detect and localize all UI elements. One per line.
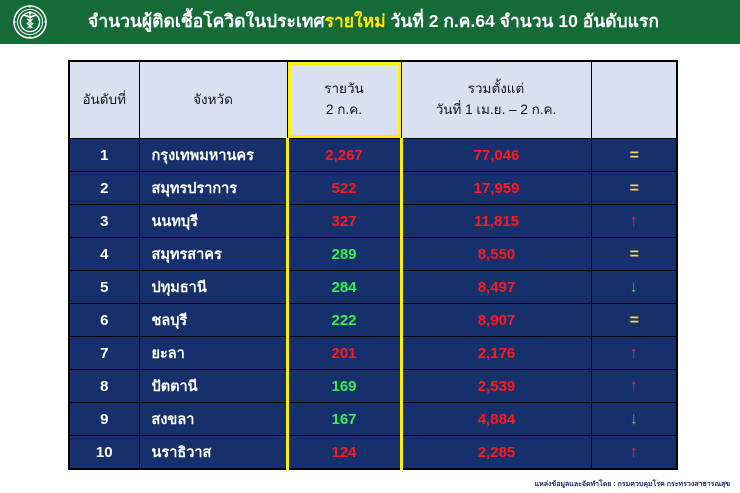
cell-trend: =: [591, 139, 677, 172]
cell-cumulative-count: 11,815: [401, 205, 591, 238]
cell-province: สมุทรปราการ: [139, 172, 287, 205]
cell-daily-count: 167: [287, 403, 401, 436]
cell-trend: =: [591, 238, 677, 271]
trend-up-icon: ↑: [630, 377, 639, 394]
table-row: 7ยะลา2012,176↑: [69, 337, 677, 370]
cell-cumulative-count: 8,907: [401, 304, 591, 337]
cell-rank: 1: [69, 139, 139, 172]
cell-rank: 4: [69, 238, 139, 271]
cell-province: นราธิวาส: [139, 436, 287, 470]
cell-trend: ↑: [591, 205, 677, 238]
covid-top10-table-container: อันดับที่ จังหวัด รายวัน 2 ก.ค. รวมตั้งแ…: [68, 60, 676, 470]
table-row: 1กรุงเทพมหานคร2,26777,046=: [69, 139, 677, 172]
cell-rank: 6: [69, 304, 139, 337]
trend-up-icon: ↑: [630, 344, 639, 361]
cell-province: สงขลา: [139, 403, 287, 436]
column-header-daily-line2: 2 ก.ค.: [290, 100, 399, 121]
cell-rank: 5: [69, 271, 139, 304]
cell-rank: 8: [69, 370, 139, 403]
trend-equal-icon: =: [630, 148, 638, 164]
cell-rank: 10: [69, 436, 139, 470]
cell-daily-count: 169: [287, 370, 401, 403]
trend-up-icon: ↑: [630, 212, 639, 229]
cell-daily-count: 124: [287, 436, 401, 470]
table-row: 4สมุทรสาคร2898,550=: [69, 238, 677, 271]
table-row: 6ชลบุรี2228,907=: [69, 304, 677, 337]
cell-province: ปัตตานี: [139, 370, 287, 403]
table-row: 10นราธิวาส1242,285↑: [69, 436, 677, 470]
cell-province: นนทบุรี: [139, 205, 287, 238]
cell-rank: 7: [69, 337, 139, 370]
cell-trend: ↑: [591, 436, 677, 470]
cell-province: ชลบุรี: [139, 304, 287, 337]
column-header-province: จังหวัด: [139, 61, 287, 139]
trend-equal-icon: =: [630, 181, 638, 197]
cell-daily-count: 284: [287, 271, 401, 304]
table-body: 1กรุงเทพมหานคร2,26777,046=2สมุทรปราการ52…: [69, 139, 677, 470]
cell-province: กรุงเทพมหานคร: [139, 139, 287, 172]
table-row: 3นนทบุรี32711,815↑: [69, 205, 677, 238]
column-header-rank: อันดับที่: [69, 61, 139, 139]
trend-up-icon: ↑: [630, 443, 639, 460]
cell-cumulative-count: 2,539: [401, 370, 591, 403]
trend-down-icon: ↓: [630, 278, 639, 295]
cell-trend: ↑: [591, 370, 677, 403]
cell-daily-count: 2,267: [287, 139, 401, 172]
cell-cumulative-count: 2,176: [401, 337, 591, 370]
page-title-prefix: จำนวนผู้ติดเชื้อโควิดในประเทศ: [88, 11, 325, 31]
page-header-bar: จำนวนผู้ติดเชื้อโควิดในประเทศรายใหม่ วัน…: [0, 0, 740, 44]
cell-rank: 2: [69, 172, 139, 205]
cell-cumulative-count: 17,959: [401, 172, 591, 205]
trend-equal-icon: =: [630, 247, 638, 263]
column-header-daily: รายวัน 2 ก.ค.: [287, 61, 401, 139]
table-row: 2สมุทรปราการ52217,959=: [69, 172, 677, 205]
cell-cumulative-count: 8,497: [401, 271, 591, 304]
column-header-trend: [591, 61, 677, 139]
table-row: 9สงขลา1674,884↓: [69, 403, 677, 436]
cell-province: ยะลา: [139, 337, 287, 370]
column-header-cumulative: รวมตั้งแต่ วันที่ 1 เม.ย. – 2 ก.ค.: [401, 61, 591, 139]
page-title-highlight: รายใหม่: [325, 11, 386, 31]
cell-cumulative-count: 77,046: [401, 139, 591, 172]
cell-daily-count: 222: [287, 304, 401, 337]
cell-daily-count: 327: [287, 205, 401, 238]
column-header-cumulative-line1: รวมตั้งแต่: [404, 79, 589, 100]
table-header: อันดับที่ จังหวัด รายวัน 2 ก.ค. รวมตั้งแ…: [69, 61, 677, 139]
table-row: 5ปทุมธานี2848,497↓: [69, 271, 677, 304]
trend-down-icon: ↓: [630, 410, 639, 427]
cell-trend: ↓: [591, 403, 677, 436]
page-title-suffix: วันที่ 2 ก.ค.64 จำนวน 10 อันดับแรก: [386, 11, 659, 31]
cell-trend: =: [591, 172, 677, 205]
table-header-row: อันดับที่ จังหวัด รายวัน 2 ก.ค. รวมตั้งแ…: [69, 61, 677, 139]
cell-cumulative-count: 2,285: [401, 436, 591, 470]
ministry-of-public-health-logo-icon: [13, 5, 47, 39]
column-header-cumulative-line2: วันที่ 1 เม.ย. – 2 ก.ค.: [404, 100, 589, 121]
trend-equal-icon: =: [630, 313, 638, 329]
cell-cumulative-count: 8,550: [401, 238, 591, 271]
covid-top10-table: อันดับที่ จังหวัด รายวัน 2 ก.ค. รวมตั้งแ…: [68, 60, 678, 470]
cell-rank: 9: [69, 403, 139, 436]
cell-trend: ↑: [591, 337, 677, 370]
cell-province: สมุทรสาคร: [139, 238, 287, 271]
cell-rank: 3: [69, 205, 139, 238]
cell-province: ปทุมธานี: [139, 271, 287, 304]
cell-daily-count: 289: [287, 238, 401, 271]
table-row: 8ปัตตานี1692,539↑: [69, 370, 677, 403]
cell-cumulative-count: 4,884: [401, 403, 591, 436]
cell-daily-count: 522: [287, 172, 401, 205]
cell-daily-count: 201: [287, 337, 401, 370]
cell-trend: ↓: [591, 271, 677, 304]
cell-trend: =: [591, 304, 677, 337]
source-credit: แหล่งข้อมูลและจัดทำโดย : กรมควบคุมโรค กร…: [535, 479, 730, 490]
page-title: จำนวนผู้ติดเชื้อโควิดในประเทศรายใหม่ วัน…: [47, 13, 740, 31]
column-header-daily-line1: รายวัน: [290, 79, 399, 100]
